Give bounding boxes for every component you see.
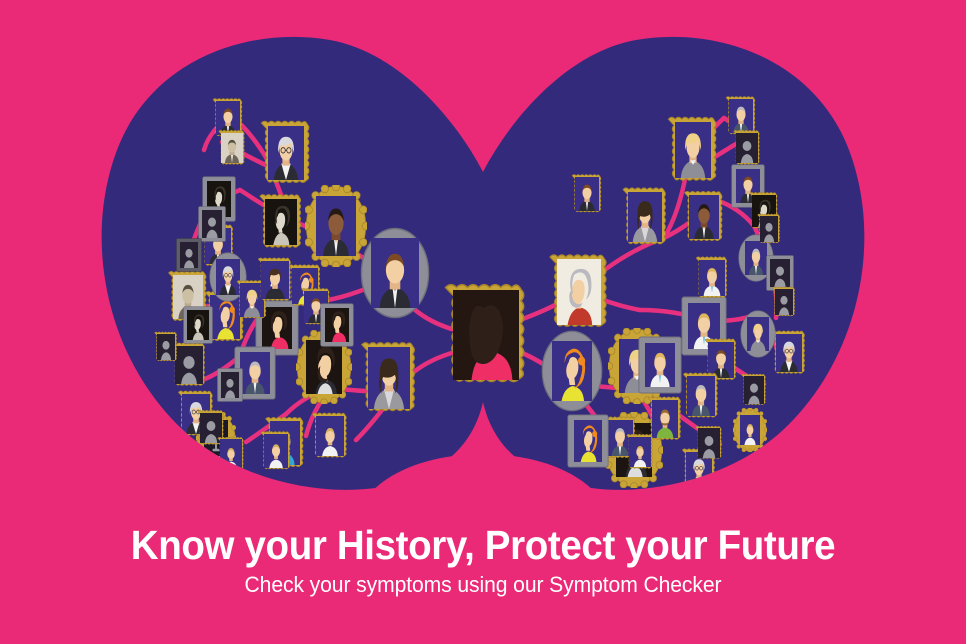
portrait-node	[741, 311, 776, 357]
portrait-node	[260, 195, 301, 248]
portrait-node	[639, 337, 681, 393]
portrait-node	[696, 257, 727, 298]
poster-canvas: Know your History, Protect your Future C…	[0, 0, 966, 644]
portrait-node	[668, 117, 716, 180]
portrait-node	[648, 397, 680, 440]
portrait-node	[623, 188, 666, 244]
portrait-node	[199, 207, 226, 242]
portrait-node	[361, 228, 428, 317]
portrait-node	[303, 183, 370, 269]
portrait-node	[568, 415, 608, 467]
portrait-node	[772, 331, 804, 374]
portrait-node	[550, 255, 606, 326]
portrait-node	[155, 332, 177, 361]
portrait-node	[742, 374, 766, 405]
portrait-node	[758, 214, 780, 243]
portrait-node	[726, 97, 755, 134]
portrait-node	[696, 426, 722, 458]
portrait-node	[542, 331, 602, 410]
portrait-node	[312, 413, 346, 457]
portrait-node	[732, 407, 769, 453]
portrait-node	[321, 304, 354, 347]
portrait-node	[685, 191, 722, 240]
portrait-node	[218, 369, 243, 402]
portrait-node	[172, 343, 204, 386]
portrait-node	[767, 256, 794, 291]
page-title: Know your History, Protect your Future	[29, 519, 937, 571]
portrait-node	[219, 130, 245, 164]
portrait-node	[261, 121, 309, 182]
portrait-node	[177, 239, 202, 272]
portrait-node	[572, 175, 601, 212]
portrait-node	[627, 434, 653, 468]
portrait-node	[184, 307, 213, 344]
portrait-node	[261, 432, 290, 469]
portrait-node	[773, 287, 795, 316]
page-subtitle: Check your symptoms using our Symptom Ch…	[19, 570, 946, 600]
portrait-node	[258, 258, 290, 301]
portrait-node	[734, 130, 760, 164]
portrait-node-matriarch	[446, 285, 524, 382]
portrait-node	[362, 343, 415, 411]
portrait-node	[683, 373, 717, 417]
